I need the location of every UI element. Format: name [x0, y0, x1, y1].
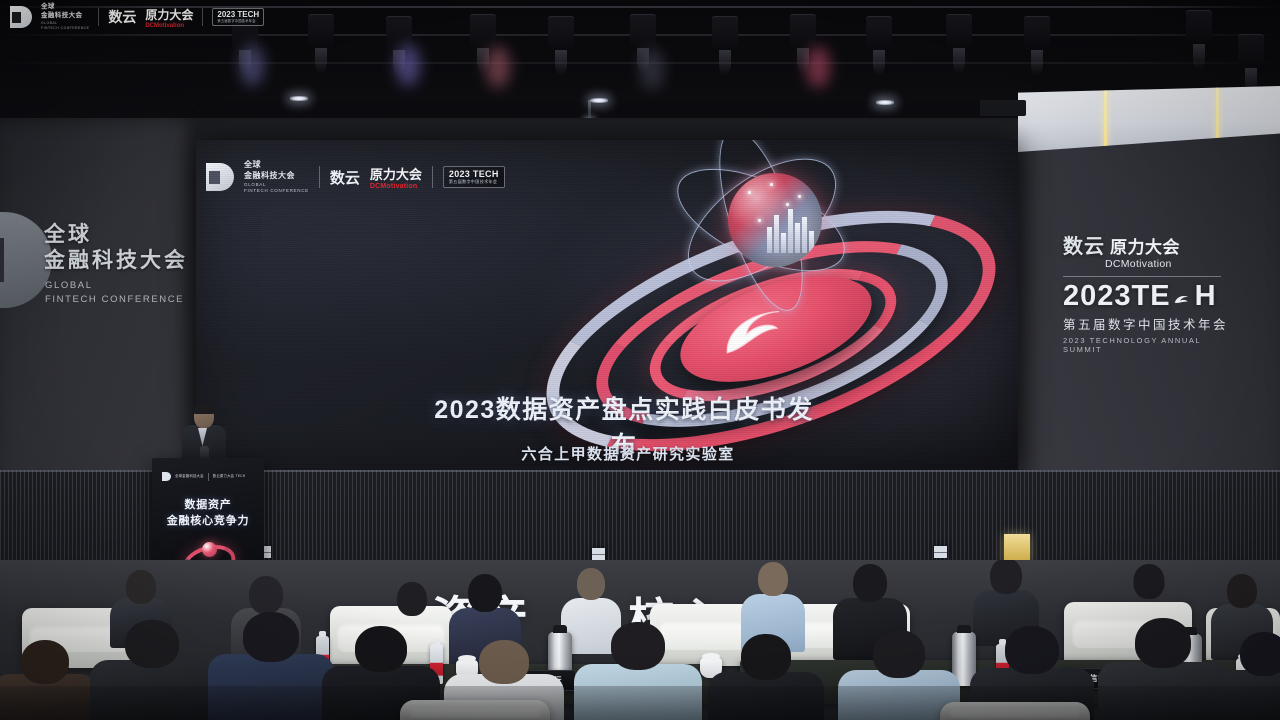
stage-light-fixture [308, 14, 334, 48]
right-wall-tech-right: H [1195, 282, 1217, 311]
left-wall-cn-line1: 全球 [44, 222, 188, 248]
light-beam-glow [640, 48, 664, 90]
right-wall-yuanli: 原力大会 [1110, 233, 1180, 258]
ceiling-downlight [590, 98, 608, 103]
city-skyline-icon [767, 209, 814, 253]
audience-seating-area: 资产 核心 [0, 560, 1280, 720]
screen-logo-en: GLOBAL FINTECH CONFERENCE [244, 182, 309, 195]
presentation-subtitle: 六合上甲数据资产研究实验室 [428, 443, 828, 464]
right-wall-branding: 数云 原力大会 DCMotivation 2023 TE H 第五届数字中国技术… [1063, 230, 1231, 354]
audience-person-front [1096, 618, 1230, 720]
stage-light-fixture [1238, 34, 1264, 68]
screen-yuanli: 原力大会 [370, 164, 422, 183]
right-wall-year: 2023 [1063, 282, 1132, 311]
broadcast-overlay-logos: 全球 金融科技大会 GLOBAL FINTECH CONFERENCE 数云 原… [0, 0, 300, 34]
screen-badge-line2: 第五届数字中国技术年会 [449, 180, 499, 184]
right-wall-dcmotivation: DCMotivation [1105, 258, 1231, 270]
left-wall-cn-line2: 金融科技大会 [44, 248, 188, 274]
right-wall-shuyun: 数云 [1063, 230, 1105, 259]
audience-person-front [0, 640, 100, 720]
speaker-person [178, 404, 226, 466]
screen-shuyun: 数云 [330, 167, 360, 188]
main-led-screen: 全球 金融科技大会 GLOBAL FINTECH CONFERENCE 数云 原… [196, 140, 1018, 470]
front-chair-back [940, 702, 1090, 720]
right-wall-tech-left: TE [1132, 282, 1171, 311]
podium-sphere-graphic [202, 542, 217, 557]
stage-light-fixture [866, 16, 892, 50]
podium-logo-cn: 全球金融科技大会 [175, 474, 204, 478]
stage-light-fixture [1024, 16, 1050, 50]
fintech-logo-icon [10, 6, 32, 28]
ceiling-downlight [876, 100, 894, 105]
light-beam-glow [396, 44, 420, 86]
podium-logo-bar: 全球金融科技大会 数云原力大会 TECH [162, 472, 245, 481]
screen-logo-bar: 全球 金融科技大会 GLOBAL FINTECH CONFERENCE 数云 原… [206, 160, 506, 194]
left-wall-cn-text: 全球 金融科技大会 [44, 222, 188, 275]
audience-person-front [706, 634, 826, 720]
stage-light-fixture [548, 16, 574, 50]
globe-sphere [728, 173, 822, 267]
overlay-yuanli: 原力大会 [145, 6, 193, 23]
right-wall-tech-lockup: 2023 TE H [1063, 282, 1231, 311]
stage-edge-marker [934, 546, 947, 558]
stage-light-fixture [630, 14, 656, 48]
right-wall-en-summit: 2023 TECHNOLOGY ANNUAL SUMMIT [1063, 336, 1231, 354]
podium-title-line2: 金融核心竞争力 [152, 514, 264, 530]
overlay-shuyun: 数云 [108, 7, 136, 27]
overlay-dcmotivation: DCMotivation [145, 23, 193, 29]
left-wall-en-line1: GLOBAL [45, 279, 184, 293]
podium-title-line1: 数据资产 [152, 498, 264, 514]
logo-divider [319, 166, 320, 188]
light-beam-glow [486, 46, 510, 88]
screen-dcmotivation: DCMotivation [370, 183, 422, 190]
overlay-tech-badge: 2023 TECH 第五届数字中国技术年会 [212, 8, 264, 26]
fintech-logo-icon [162, 472, 171, 481]
conference-stage-photo: 全球 金融科技大会 GLOBAL FINTECH CONFERENCE 数云 原… [0, 0, 1280, 720]
fintech-logo-icon [206, 163, 234, 191]
front-chair-back [400, 700, 550, 720]
audience-person-front [572, 622, 704, 720]
overlay-divider [202, 8, 203, 26]
podium-title-text: 数据资产 金融核心竞争力 [152, 498, 264, 530]
right-wall-divider [1063, 276, 1221, 277]
stage-light-fixture [790, 14, 816, 48]
left-wall-en-line2: FINTECH CONFERENCE [45, 293, 184, 307]
podium-logo-label: 数云原力大会 TECH [213, 474, 246, 478]
screen-logo-cn: 全球 金融科技大会 [244, 160, 309, 182]
logo-divider [432, 166, 433, 188]
overlay-logo-cn: 全球 金融科技大会 [41, 3, 89, 21]
overlay-logo-en: GLOBAL FINTECH CONFERENCE [41, 21, 89, 31]
stage-light-fixture [1186, 10, 1212, 44]
ceiling-projector [980, 100, 1026, 116]
stage-light-fixture [712, 16, 738, 50]
stage-light-fixture [946, 14, 972, 48]
left-wall-en-text: GLOBAL FINTECH CONFERENCE [45, 279, 184, 308]
stage-edge-marker [592, 548, 605, 560]
ceiling-downlight [290, 96, 308, 101]
audience-person-front [88, 620, 216, 720]
screen-tech-badge: 2023 TECH 第五届数字中国技术年会 [443, 166, 505, 188]
audience-person-front [1216, 632, 1280, 720]
right-wall-cn-summit: 第五届数字中国技术年会 [1063, 314, 1231, 333]
stage-light-fixture [470, 14, 496, 48]
light-beam-glow [240, 44, 264, 86]
overlay-divider [98, 8, 99, 26]
swirl-icon [1172, 288, 1194, 310]
overlay-badge-line2: 第五届数字中国技术年会 [217, 20, 259, 24]
light-beam-glow [806, 46, 830, 88]
audience-person-front [206, 612, 336, 720]
